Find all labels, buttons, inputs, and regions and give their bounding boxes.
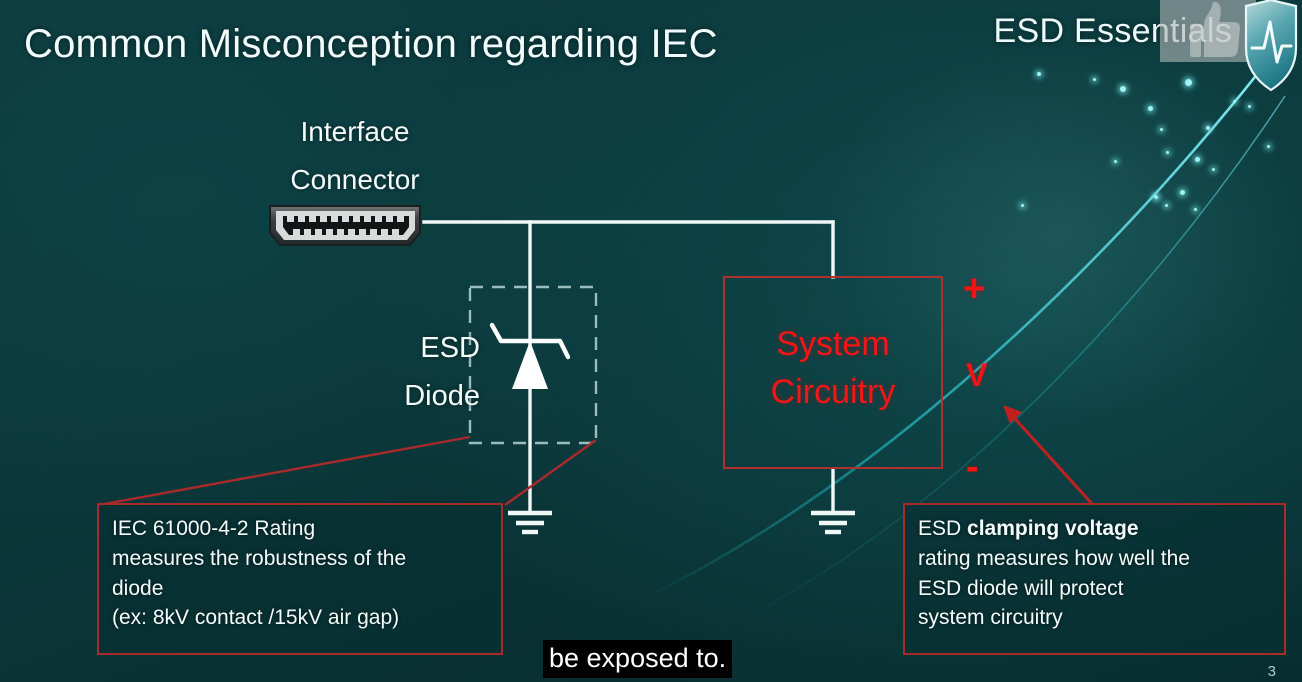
callout-right: ESD clamping voltage rating measures how…: [903, 503, 1286, 655]
callout-right-line2: rating measures how well the: [918, 544, 1271, 574]
callout-right-line4: system circuitry: [918, 603, 1271, 633]
esd-diode-label: ESDDiode: [340, 325, 480, 421]
slide-canvas: Common Misconception regarding IEC ESD E…: [0, 0, 1302, 682]
ground-symbol-icon: [811, 513, 855, 532]
callout-left-line1: IEC 61000-4-2 Rating: [112, 514, 488, 544]
callout-right-bold: clamping voltage: [967, 517, 1139, 540]
callout-left-line4: (ex: 8kV contact /15kV air gap): [112, 603, 488, 633]
voltage-label: V: [966, 357, 987, 394]
minus-sign-label: -: [966, 446, 979, 489]
callout-right-line1: ESD clamping voltage: [918, 514, 1271, 544]
system-circuitry-label: SystemCircuitry: [723, 320, 943, 417]
callout-arrow-icon: [1003, 405, 1093, 505]
plus-sign-label: +: [963, 268, 985, 311]
ground-symbol-icon: [508, 513, 552, 532]
interface-connector-label: InterfaceConnector: [260, 108, 450, 203]
callout-left: IEC 61000-4-2 Rating measures the robust…: [97, 503, 503, 655]
video-caption: be exposed to.: [543, 640, 732, 678]
callout-right-prefix: ESD: [918, 517, 967, 540]
callout-left-line3: diode: [112, 574, 488, 604]
hdmi-connector-icon: [264, 202, 426, 249]
callout-leader-lines: [99, 437, 596, 505]
callout-left-line2: measures the robustness of the: [112, 544, 488, 574]
page-number: 3: [1268, 663, 1276, 680]
callout-right-line3: ESD diode will protect: [918, 574, 1271, 604]
